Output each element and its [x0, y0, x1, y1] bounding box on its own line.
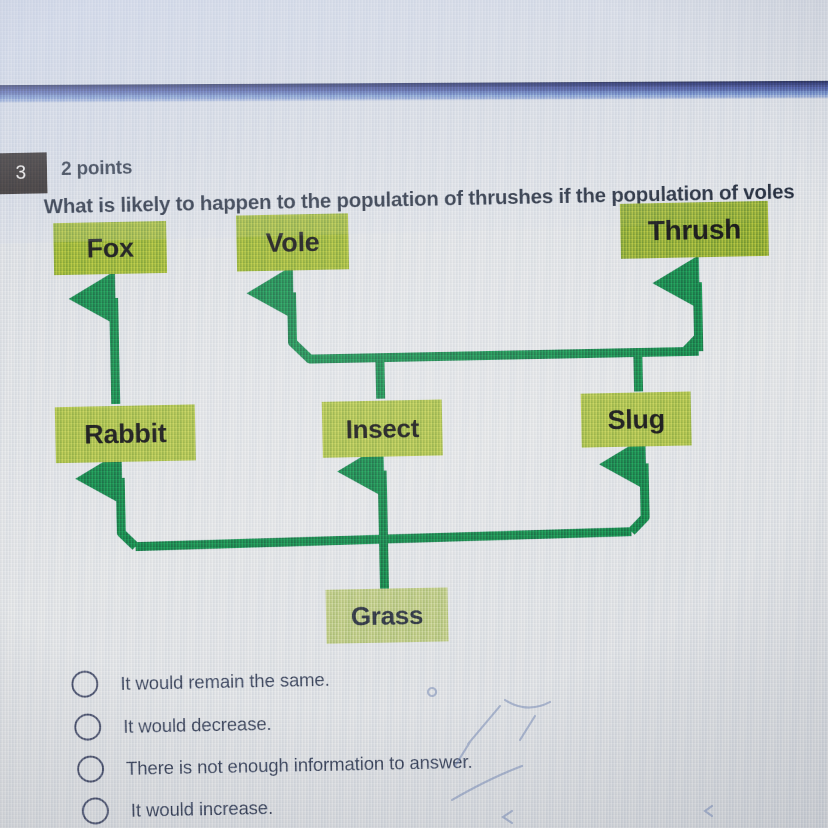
- node-thrush[interactable]: Thrush: [620, 201, 769, 259]
- node-slug-label: Slug: [607, 403, 665, 435]
- node-insect-label: Insect: [345, 412, 419, 444]
- node-rabbit[interactable]: Rabbit: [55, 404, 196, 463]
- node-fox[interactable]: Fox: [53, 221, 167, 275]
- food-web-diagram: Fox Vole Thrush Rabbit Insect Slug Grass: [0, 0, 828, 828]
- quiz-document: 3 2 points What is likely to happen to t…: [0, 0, 828, 828]
- node-rabbit-label: Rabbit: [84, 417, 167, 450]
- edge-rabbit-to-fox: [114, 298, 116, 404]
- edge-slug-stem: [638, 352, 639, 391]
- edge-to-vole: [292, 292, 310, 359]
- node-slug[interactable]: Slug: [581, 391, 692, 447]
- edge-grass-to-rabbit: [120, 478, 135, 547]
- node-fox-label: Fox: [86, 232, 134, 264]
- node-grass[interactable]: Grass: [326, 587, 449, 643]
- edge-grass-to-slug: [630, 463, 645, 531]
- node-thrush-label: Thrush: [648, 213, 742, 247]
- edge-grass-stem: [383, 538, 384, 589]
- node-vole[interactable]: Vole: [236, 213, 349, 271]
- photographed-screen: 3 2 points What is likely to happen to t…: [0, 0, 828, 828]
- edge-grass-to-insect: [382, 471, 383, 538]
- node-grass-label: Grass: [351, 599, 424, 631]
- node-vole-label: Vole: [265, 226, 319, 258]
- node-insect[interactable]: Insect: [322, 399, 443, 457]
- edge-insect-stem: [380, 358, 381, 399]
